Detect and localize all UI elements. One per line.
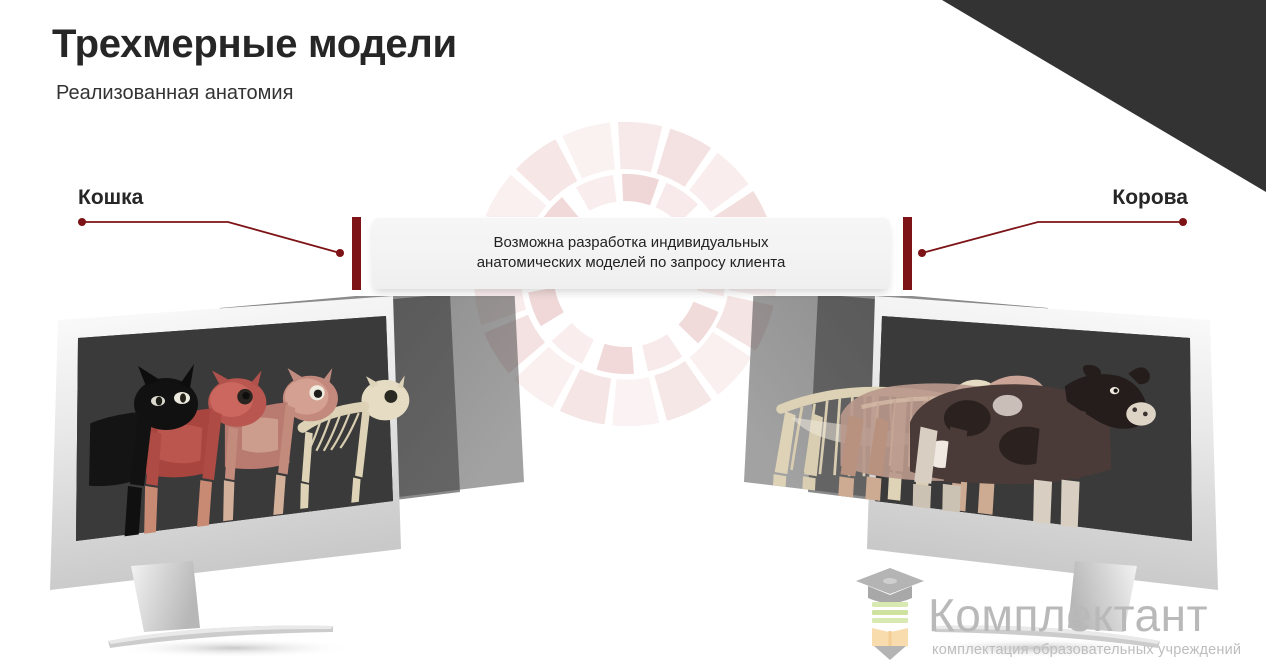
connector-right <box>918 218 1187 257</box>
monitor-stand <box>935 561 1160 648</box>
monitor-stand <box>108 561 333 648</box>
connector-left-start-dot <box>78 218 86 226</box>
accent-bar-right <box>903 217 912 290</box>
page-subtitle: Реализованная анатомия <box>56 82 293 105</box>
corner-decoration <box>880 0 1266 192</box>
page-title: Трехмерные модели <box>52 22 457 67</box>
connector-left <box>78 218 344 257</box>
note-callout-text: Возможна разработка индивидуальных анато… <box>465 233 798 273</box>
connector-right-end-dot <box>918 249 926 257</box>
connector-right-start-dot <box>1179 218 1187 226</box>
slide-canvas: Возможна разработка индивидуальных анато… <box>0 0 1266 665</box>
connector-left-end-dot <box>336 249 344 257</box>
accent-bar-left <box>352 217 361 290</box>
callout-label-cow: Корова <box>1112 186 1188 210</box>
note-line-1: Возможна разработка индивидуальных <box>493 234 768 251</box>
note-line-2: анатомических моделей по запросу клиента <box>477 254 786 271</box>
cat-anatomy-monitor <box>48 296 548 665</box>
callout-label-cat: Кошка <box>78 186 143 210</box>
cow-anatomy-monitor <box>710 296 1220 665</box>
note-callout-box: Возможна разработка индивидуальных анато… <box>372 217 890 289</box>
